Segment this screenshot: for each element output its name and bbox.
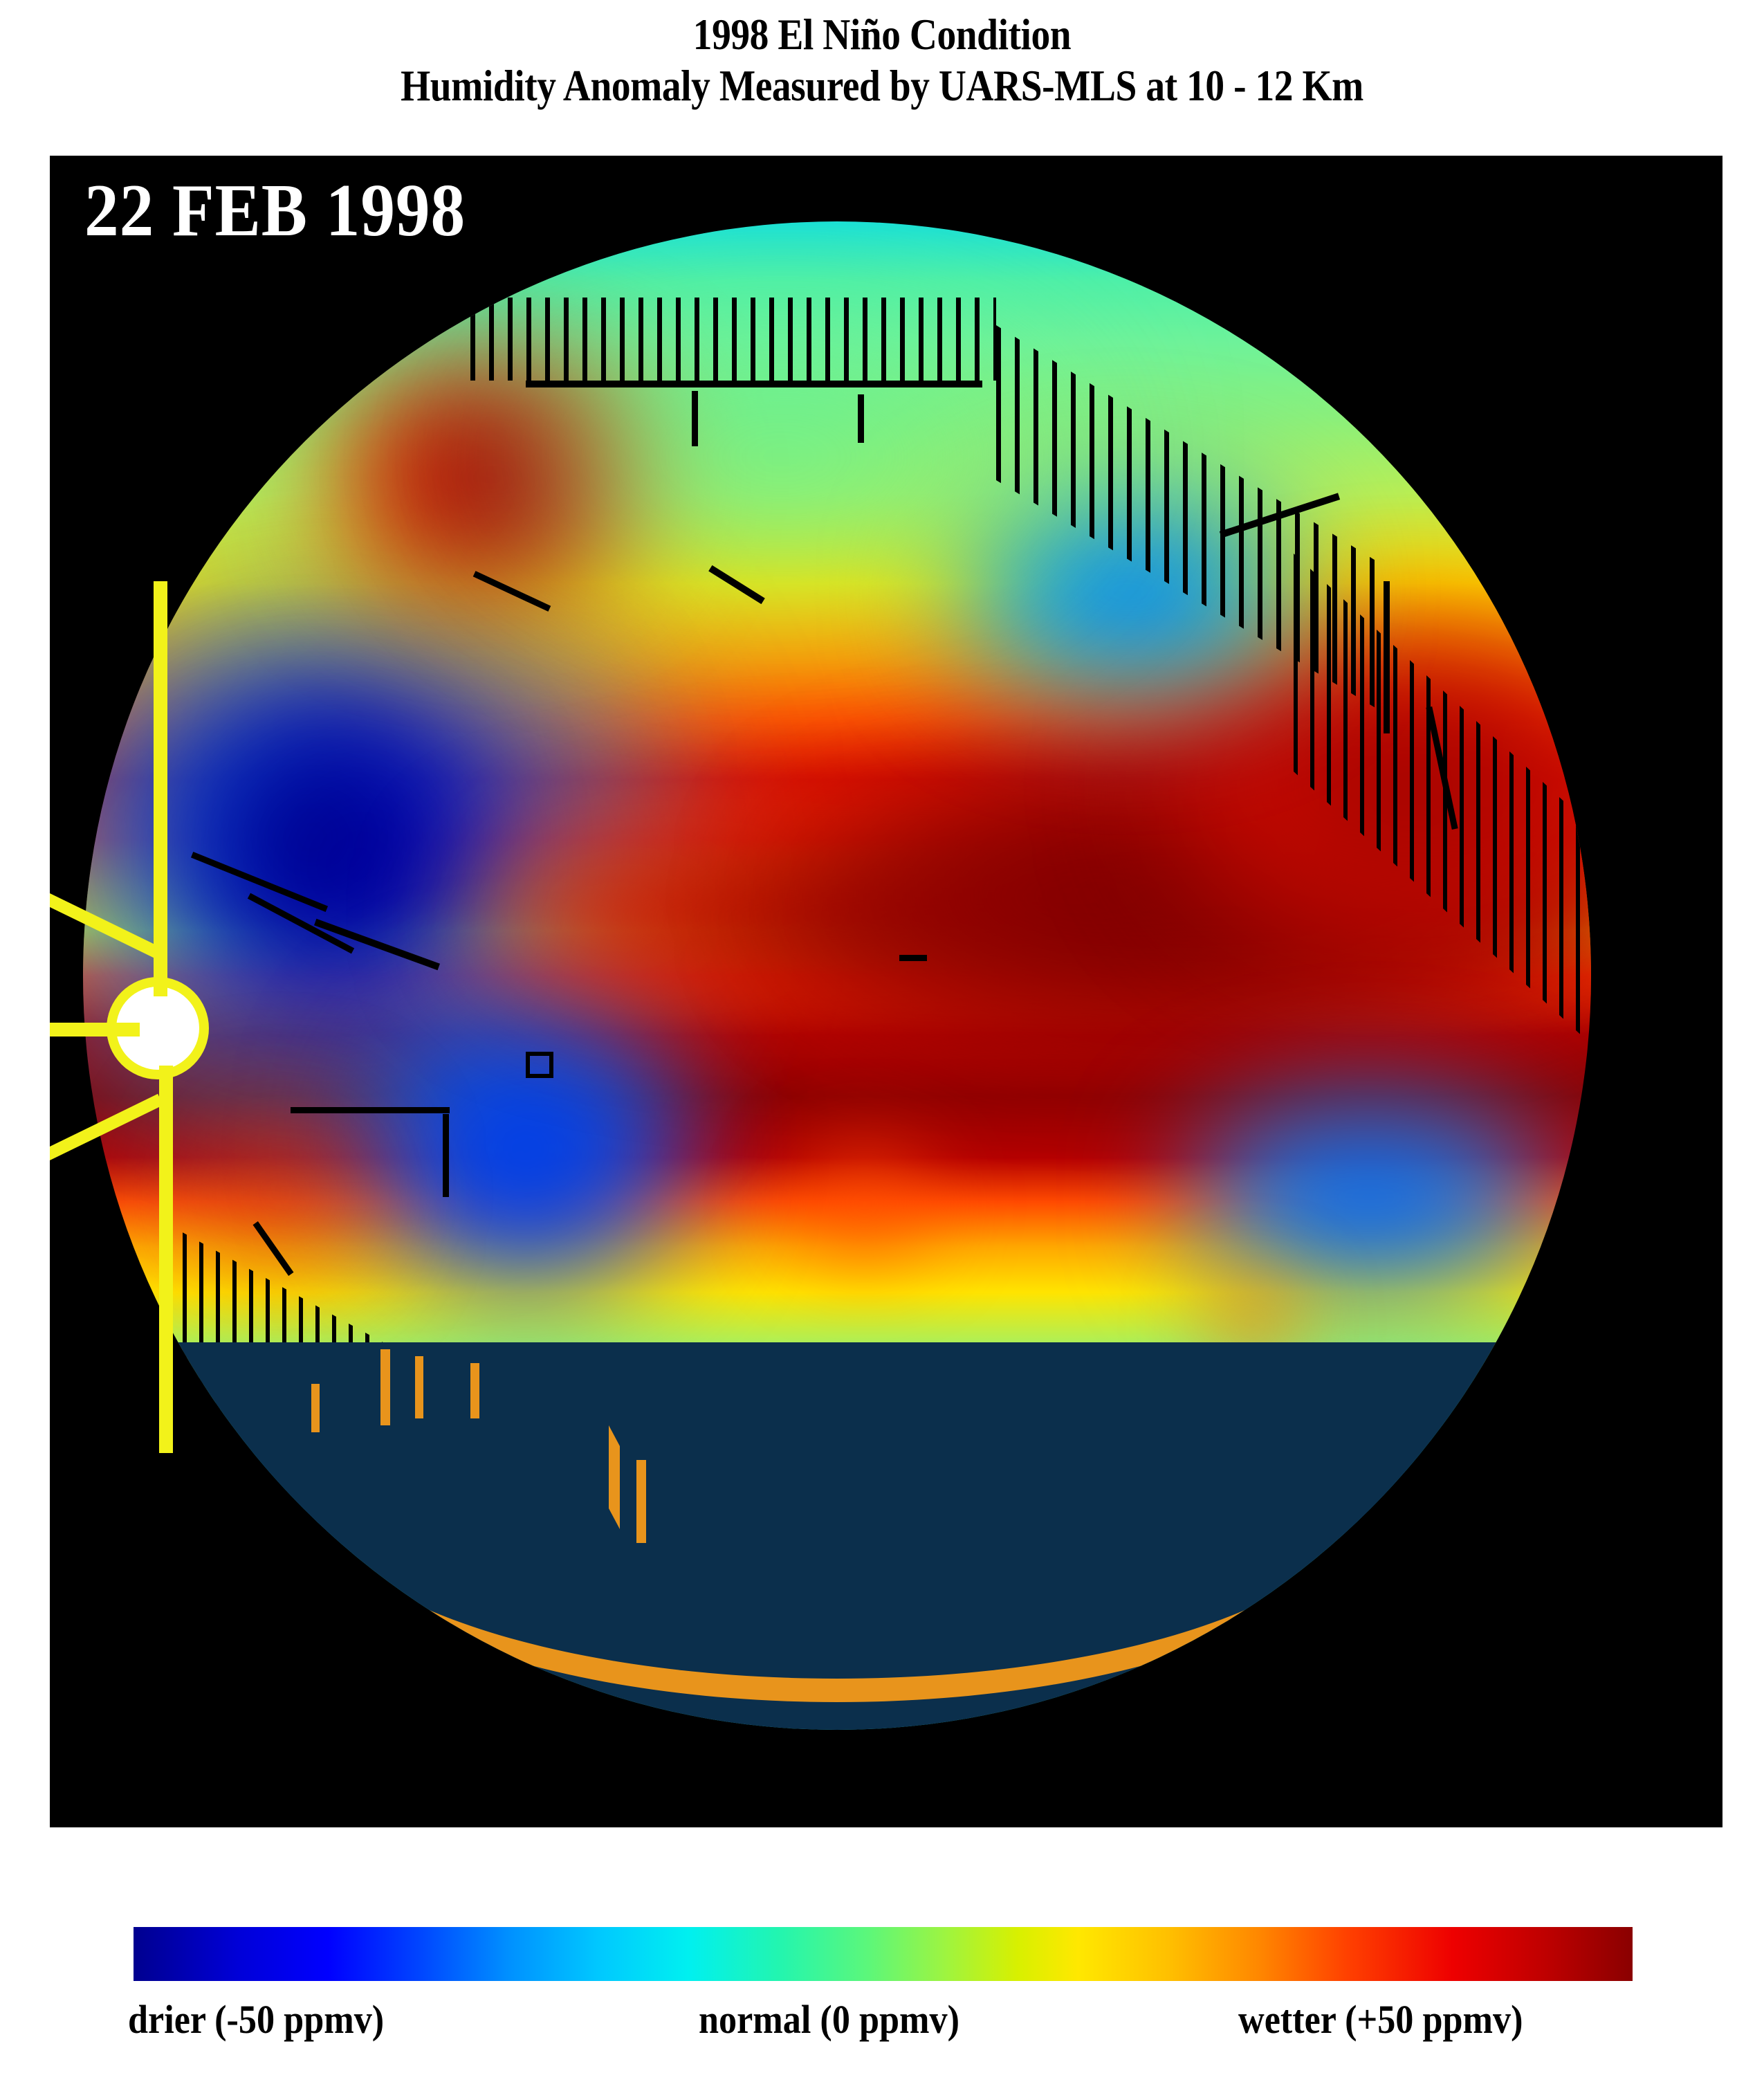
coastline-segment-small-isle — [526, 1052, 553, 1078]
coastline-segment-asia-1 — [692, 391, 698, 446]
globe-disc — [83, 221, 1591, 1730]
coastline-nodata-segment-2 — [415, 1356, 423, 1418]
coastline-segment-asia-2 — [858, 394, 864, 443]
coastline-nodata-segment-6 — [636, 1460, 646, 1543]
coastline-segment-australia-n — [291, 1107, 450, 1113]
anomaly-blob-dry-south-west — [332, 1003, 719, 1294]
coastline-segment-mid-pacific-isle — [899, 955, 927, 961]
colorbar-labels: drier (-50 ppmv) normal (0 ppmv) wetter … — [0, 1996, 1764, 2058]
anomaly-blob-neutral-north — [470, 318, 1093, 595]
coastline-nodata-segment-1 — [380, 1349, 390, 1425]
map-panel: 22 FEB 1998 — [50, 156, 1722, 1827]
colorbar-container — [134, 1927, 1633, 1981]
colorbar-label-min: drier (-50 ppmv) — [128, 1996, 384, 2043]
coastline-nodata-segment-4 — [311, 1384, 320, 1432]
coastline-segment-australia-e — [443, 1114, 449, 1197]
anomaly-blob-dry-south-east — [1176, 1093, 1563, 1301]
colorbar-label-center: normal (0 ppmv) — [699, 1996, 959, 2043]
sun-ray-up — [154, 581, 167, 996]
sun-ray-left — [50, 1023, 140, 1037]
coastline-segment-asia-north — [526, 381, 982, 387]
coastline-segment-america-w — [1384, 581, 1390, 733]
page-root: 1998 El Niño Condition Humidity Anomaly … — [0, 0, 1764, 2082]
figure-title: 1998 El Niño Condition Humidity Anomaly … — [0, 12, 1764, 109]
title-line-1: 1998 El Niño Condition — [106, 12, 1658, 58]
title-line-2: Humidity Anomaly Measured by UARS-MLS at… — [106, 64, 1658, 109]
globe-container — [83, 221, 1591, 1730]
coastline-nodata-segment-7 — [1522, 1591, 1531, 1674]
sun-marker-group — [57, 913, 285, 1142]
coastline-nodata-segment-3 — [470, 1363, 479, 1418]
colorbar-label-max: wetter (+50 ppmv) — [1238, 1996, 1523, 2043]
anomaly-blob-wet-small-center — [761, 1142, 968, 1266]
colorbar-gradient — [134, 1927, 1633, 1981]
sun-ray-down — [159, 1066, 173, 1453]
